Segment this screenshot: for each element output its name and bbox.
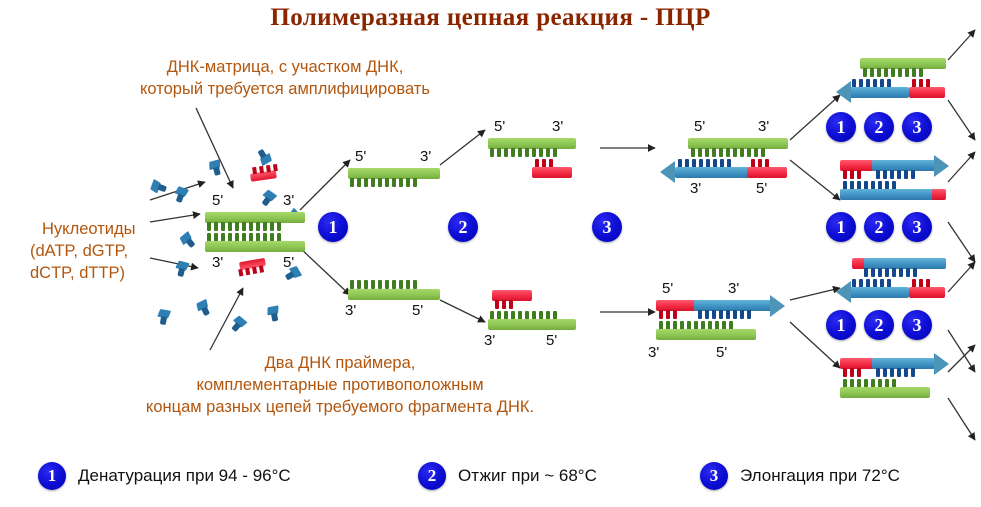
caption-template-line2: который требуется амплифицировать [85, 78, 485, 100]
prime-label-3: 3' [690, 180, 701, 197]
prime-label-3: 3' [212, 254, 223, 271]
caption-nucleotides-line2: (dATP, dGTP, [30, 240, 200, 262]
dna-annealed-lower [488, 290, 588, 330]
prime-label-5: 5' [412, 302, 423, 319]
prime-label-3: 3' [420, 148, 431, 165]
step-circle-3[interactable]: 3 [902, 112, 932, 142]
prime-label-3: 3' [484, 332, 495, 349]
dna-product-4 [836, 358, 966, 392]
caption-template-line1: ДНК-матрица, с участком ДНК, [85, 56, 485, 78]
prime-label-5: 5' [212, 192, 223, 209]
caption-nucleotides-line1: Нуклеотиды [30, 218, 200, 240]
prime-label-5: 5' [355, 148, 366, 165]
step-circle-1[interactable]: 1 [318, 212, 348, 242]
prime-label-3: 3' [283, 192, 294, 209]
legend-item-1: 1 Денатурация при 94 - 96°C [38, 462, 291, 490]
step-circle-1[interactable]: 1 [826, 112, 856, 142]
step-circle-3[interactable]: 3 [902, 212, 932, 242]
caption-primers-line3: концам разных цепей требуемого фрагмента… [60, 396, 620, 418]
step-circle-3[interactable]: 3 [902, 310, 932, 340]
legend-circle-1[interactable]: 1 [38, 462, 66, 490]
legend-item-2: 2 Отжиг при ~ 68°C [418, 462, 597, 490]
dna-annealed-upper [488, 138, 588, 178]
prime-label-5: 5' [756, 180, 767, 197]
legend-label-2: Отжиг при ~ 68°C [458, 466, 597, 486]
product-2-step-trio: 1 2 3 [826, 212, 932, 242]
prime-label-3: 3' [648, 344, 659, 361]
step-circle-1[interactable]: 1 [826, 212, 856, 242]
dna-template-duplex [205, 212, 305, 252]
dna-elongation-lower [650, 300, 800, 344]
dna-product-2 [836, 160, 966, 194]
legend-label-1: Денатурация при 94 - 96°C [78, 466, 291, 486]
prime-label-3: 3' [345, 302, 356, 319]
dna-single-strand-upper [348, 168, 443, 190]
prime-label-3: 3' [552, 118, 563, 135]
step-circle-2[interactable]: 2 [864, 112, 894, 142]
prime-label-3: 3' [758, 118, 769, 135]
prime-label-5: 5' [283, 254, 294, 271]
legend-circle-3[interactable]: 3 [700, 462, 728, 490]
step-circle-3[interactable]: 3 [592, 212, 622, 242]
step-circle-1[interactable]: 1 [826, 310, 856, 340]
prime-label-5: 5' [694, 118, 705, 135]
prime-label-5: 5' [716, 344, 727, 361]
nucleotide-icon [157, 309, 174, 326]
legend-label-3: Элонгация при 72°C [740, 466, 900, 486]
dna-product-3 [836, 258, 966, 292]
caption-primers-line2: комплементарные противоположным [60, 374, 620, 396]
step-circle-2[interactable]: 2 [448, 212, 478, 242]
prime-label-5: 5' [662, 280, 673, 297]
dna-product-1 [836, 58, 966, 92]
caption-primers-line1: Два ДНК праймера, [60, 352, 620, 374]
prime-label-3: 3' [728, 280, 739, 297]
caption-template: ДНК-матрица, с участком ДНК, который тре… [85, 56, 485, 100]
legend-item-3: 3 Элонгация при 72°C [700, 462, 900, 490]
caption-primers: Два ДНК праймера, комплементарные против… [60, 352, 620, 418]
nucleotide-icon [267, 305, 284, 322]
step-circle-2[interactable]: 2 [864, 212, 894, 242]
prime-label-5: 5' [494, 118, 505, 135]
dna-single-strand-lower [348, 280, 443, 302]
dna-elongation-upper [660, 138, 800, 182]
legend-circle-2[interactable]: 2 [418, 462, 446, 490]
step-circle-2[interactable]: 2 [864, 310, 894, 340]
product-1-step-trio: 1 2 3 [826, 112, 932, 142]
prime-label-5: 5' [546, 332, 557, 349]
product-3-step-trio: 1 2 3 [826, 310, 932, 340]
